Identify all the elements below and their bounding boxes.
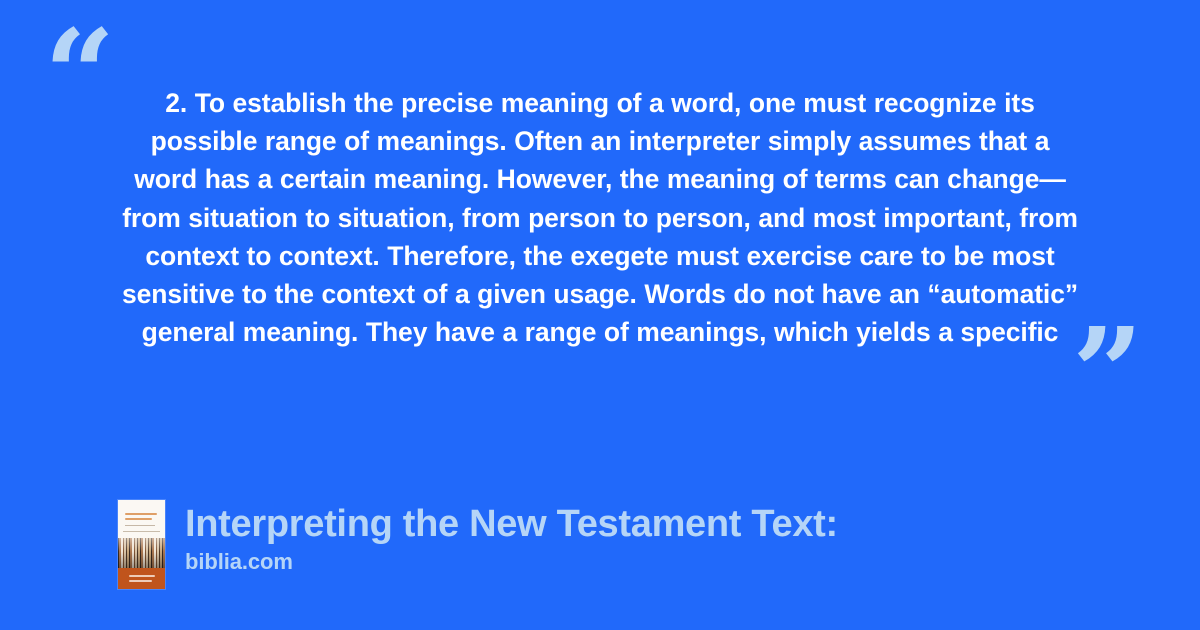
- cover-subtitle-line: [125, 525, 155, 526]
- footer-attribution: Interpreting the New Testament Text: bib…: [118, 500, 838, 589]
- footer-text-block: Interpreting the New Testament Text: bib…: [185, 500, 838, 576]
- cover-author-line-2: [129, 580, 152, 582]
- cover-top-panel: [118, 500, 165, 540]
- cover-title-line-2: [125, 518, 152, 520]
- close-quote-icon: ”: [1072, 312, 1141, 436]
- quote-text: 2. To establish the precise meaning of a…: [118, 84, 1082, 351]
- cover-divider-rule: [123, 531, 160, 532]
- cover-author-line-1: [129, 575, 155, 577]
- cover-title-line-1: [125, 513, 157, 515]
- site-name: biblia.com: [185, 548, 838, 576]
- quote-card: “ 2. To establish the precise meaning of…: [0, 0, 1200, 630]
- open-quote-icon: “: [44, 14, 113, 138]
- book-title: Interpreting the New Testament Text:: [185, 502, 838, 546]
- cover-bookshelf-shading: [118, 538, 165, 568]
- book-cover-thumbnail: [118, 500, 165, 589]
- cover-bottom-panel: [118, 568, 165, 589]
